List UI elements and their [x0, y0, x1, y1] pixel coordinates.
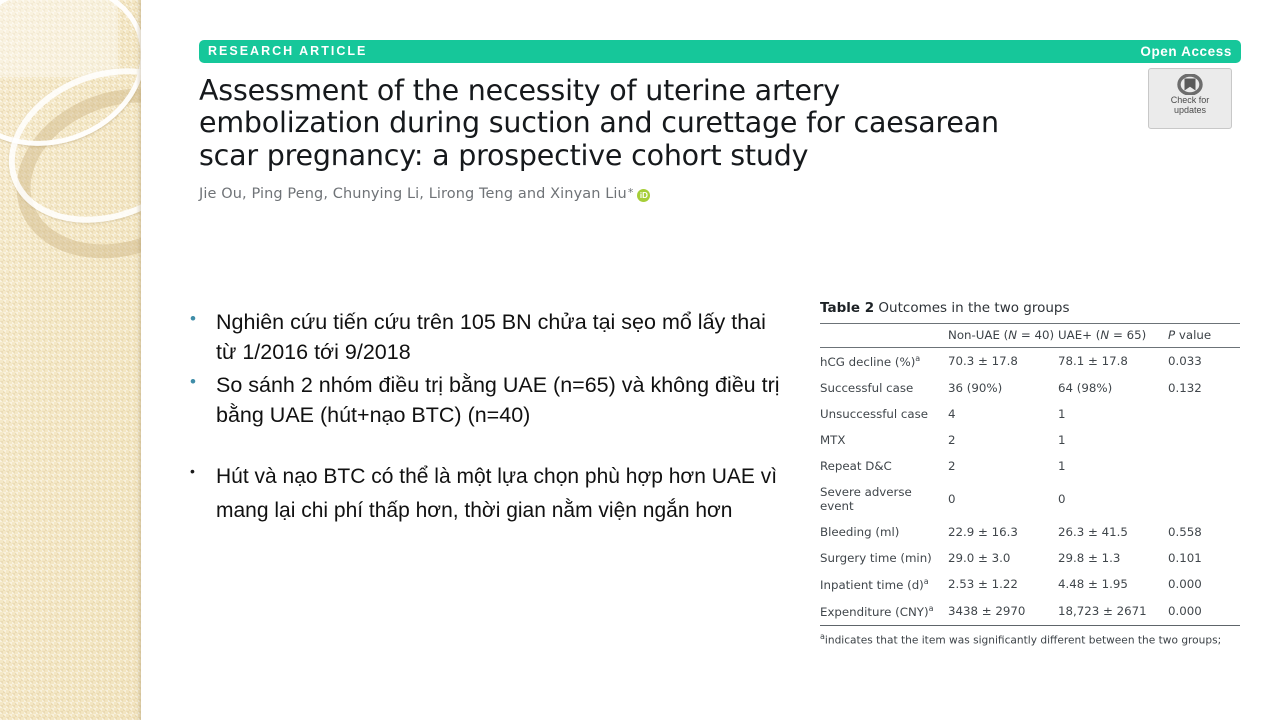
cell-uae: 18,723 ± 2671	[1058, 598, 1168, 625]
col-header-uae: UAE+ (N = 65)	[1058, 324, 1168, 348]
bullet-marker: •	[190, 371, 216, 430]
article-title: Assessment of the necessity of uterine a…	[199, 75, 1009, 172]
cell-non-uae: 2	[948, 427, 1058, 453]
open-access-banner: RESEARCH ARTICLE Open Access	[199, 40, 1241, 63]
crossmark-icon	[1175, 74, 1205, 95]
cell-uae: 1	[1058, 453, 1168, 479]
col-header-item	[820, 324, 948, 348]
cell-non-uae: 22.9 ± 16.3	[948, 519, 1058, 545]
cell-uae: 0	[1058, 479, 1168, 519]
decorative-sidebar	[0, 0, 141, 720]
cell-item: Expenditure (CNY)a	[820, 598, 948, 625]
table-figure: Table 2 Outcomes in the two groups Non-U…	[820, 300, 1240, 648]
table-caption: Table 2 Outcomes in the two groups	[820, 300, 1240, 316]
cell-item: Bleeding (ml)	[820, 519, 948, 545]
cell-pvalue	[1168, 453, 1240, 479]
article-header: RESEARCH ARTICLE Open Access Assessment …	[199, 40, 1241, 202]
table-row: Bleeding (ml)22.9 ± 16.326.3 ± 41.50.558	[820, 519, 1240, 545]
crossmark-line2: updates	[1149, 106, 1231, 116]
cell-non-uae: 29.0 ± 3.0	[948, 545, 1058, 571]
cell-item: Inpatient time (d)a	[820, 571, 948, 598]
cell-item: Severe adverse event	[820, 479, 948, 519]
cell-pvalue: 0.033	[1168, 348, 1240, 375]
open-access-label: Open Access	[1140, 45, 1232, 59]
cell-pvalue: 0.558	[1168, 519, 1240, 545]
bullet-marker: •	[190, 308, 216, 367]
cell-pvalue	[1168, 401, 1240, 427]
bullet-text: Nghiên cứu tiến cứu trên 105 BN chửa tại…	[216, 308, 790, 367]
table-row: MTX21	[820, 427, 1240, 453]
cell-pvalue: 0.101	[1168, 545, 1240, 571]
table-body: hCG decline (%)a70.3 ± 17.878.1 ± 17.80.…	[820, 348, 1240, 626]
check-for-updates-badge[interactable]: Check for updates	[1148, 68, 1232, 129]
table-row: Inpatient time (d)a2.53 ± 1.224.48 ± 1.9…	[820, 571, 1240, 598]
table-row: Repeat D&C21	[820, 453, 1240, 479]
table-label: Table 2	[820, 300, 874, 316]
cell-item: Surgery time (min)	[820, 545, 948, 571]
table-row: Unsuccessful case41	[820, 401, 1240, 427]
corresponding-author-mark: *	[628, 186, 634, 199]
cell-non-uae: 36 (90%)	[948, 375, 1058, 401]
cell-non-uae: 0	[948, 479, 1058, 519]
article-authors: Jie Ou, Ping Peng, Chunying Li, Lirong T…	[199, 186, 1241, 202]
cell-non-uae: 70.3 ± 17.8	[948, 348, 1058, 375]
list-item: • So sánh 2 nhóm điều trị bằng UAE (n=65…	[190, 371, 790, 430]
table-row: hCG decline (%)a70.3 ± 17.878.1 ± 17.80.…	[820, 348, 1240, 375]
table-row: Expenditure (CNY)a3438 ± 297018,723 ± 26…	[820, 598, 1240, 625]
cell-non-uae: 2.53 ± 1.22	[948, 571, 1058, 598]
cell-item: MTX	[820, 427, 948, 453]
cell-non-uae: 4	[948, 401, 1058, 427]
table-row: Successful case36 (90%)64 (98%)0.132	[820, 375, 1240, 401]
bullet-list: • Nghiên cứu tiến cứu trên 105 BN chửa t…	[190, 308, 790, 532]
author-names: Jie Ou, Ping Peng, Chunying Li, Lirong T…	[199, 186, 627, 202]
list-item: • Nghiên cứu tiến cứu trên 105 BN chửa t…	[190, 308, 790, 367]
outcomes-table: Non-UAE (N = 40) UAE+ (N = 65) P value h…	[820, 323, 1240, 626]
cell-non-uae: 3438 ± 2970	[948, 598, 1058, 625]
table-footnote: aindicates that the item was significant…	[820, 632, 1240, 648]
cell-pvalue: 0.000	[1168, 571, 1240, 598]
cell-uae: 1	[1058, 427, 1168, 453]
bullet-text: Hút và nạo BTC có thể là một lựa chọn ph…	[216, 460, 790, 528]
orcid-icon: iD	[637, 189, 650, 202]
list-item: • Hút và nạo BTC có thể là một lựa chọn …	[190, 460, 790, 528]
cell-uae: 1	[1058, 401, 1168, 427]
cell-uae: 26.3 ± 41.5	[1058, 519, 1168, 545]
col-header-pvalue: P value	[1168, 324, 1240, 348]
bullet-marker: •	[190, 460, 216, 528]
col-header-non-uae: Non-UAE (N = 40)	[948, 324, 1058, 348]
table-caption-text: Outcomes in the two groups	[878, 300, 1069, 316]
table-row: Severe adverse event00	[820, 479, 1240, 519]
cell-uae: 4.48 ± 1.95	[1058, 571, 1168, 598]
cell-uae: 29.8 ± 1.3	[1058, 545, 1168, 571]
cell-item: Unsuccessful case	[820, 401, 948, 427]
cell-non-uae: 2	[948, 453, 1058, 479]
cell-pvalue: 0.132	[1168, 375, 1240, 401]
sidebar-edge-shadow	[136, 0, 141, 720]
cell-item: Repeat D&C	[820, 453, 948, 479]
cell-item: Successful case	[820, 375, 948, 401]
cell-item: hCG decline (%)a	[820, 348, 948, 375]
footnote-line1: indicates that the item was significantl…	[825, 634, 1221, 646]
cell-uae: 64 (98%)	[1058, 375, 1168, 401]
cell-pvalue: 0.000	[1168, 598, 1240, 625]
cell-uae: 78.1 ± 17.8	[1058, 348, 1168, 375]
table-row: Surgery time (min)29.0 ± 3.029.8 ± 1.30.…	[820, 545, 1240, 571]
cell-pvalue	[1168, 427, 1240, 453]
research-article-label: RESEARCH ARTICLE	[208, 45, 367, 58]
cell-pvalue	[1168, 479, 1240, 519]
bullet-text: So sánh 2 nhóm điều trị bằng UAE (n=65) …	[216, 371, 790, 430]
table-header-row: Non-UAE (N = 40) UAE+ (N = 65) P value	[820, 324, 1240, 348]
